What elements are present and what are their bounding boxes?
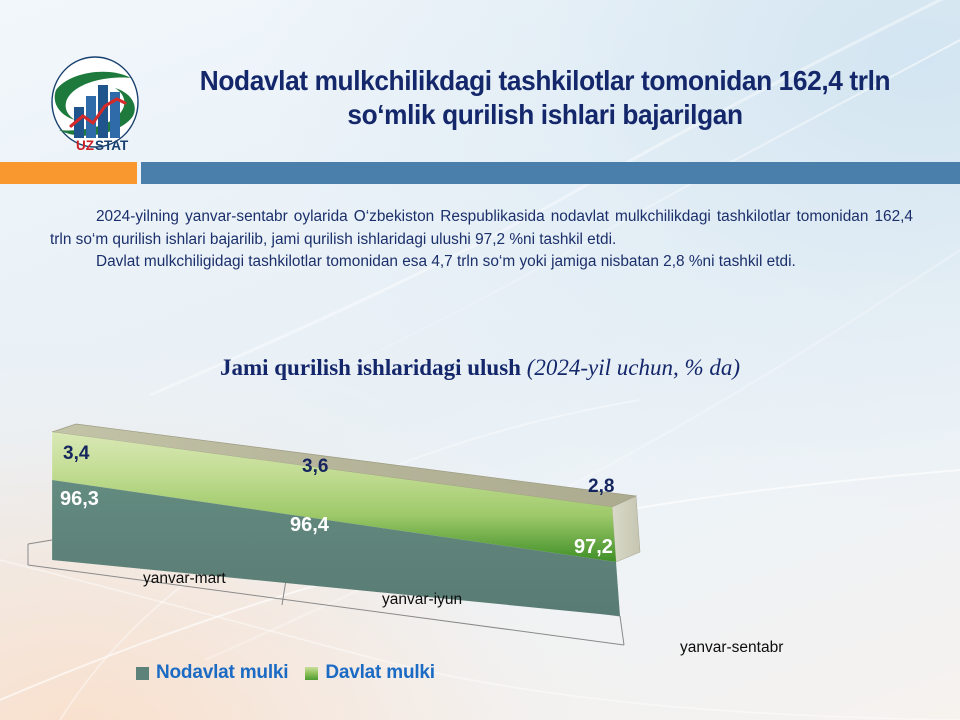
chart-legend: Nodavlat mulki Davlat mulki	[136, 662, 435, 684]
svg-text:STAT: STAT	[95, 138, 129, 153]
chart-3d-graphic	[0, 400, 960, 670]
value-label-nodavlat-q3: 97,2	[574, 536, 613, 559]
legend-label-davlat: Davlat mulki	[325, 662, 435, 684]
value-label-nodavlat-q1: 96,3	[60, 488, 99, 511]
value-label-davlat-q3: 2,8	[588, 476, 614, 498]
chart-title: Jami qurilish ishlaridagi ulush (2024-yi…	[0, 355, 960, 381]
legend-label-nodavlat: Nodavlat mulki	[156, 662, 288, 684]
body-text: 2024-yilning yanvar-sentabr oylarida O‘z…	[50, 206, 913, 274]
legend-swatch-icon-nodavlat	[136, 667, 149, 680]
accent-bar-blue	[141, 162, 960, 184]
chart: 3,4 3,6 2,8 96,3 96,4 97,2 yanvar-mart y…	[0, 400, 960, 670]
legend-item-nodavlat-mulki[interactable]: Nodavlat mulki	[136, 662, 288, 684]
page-title: Nodavlat mulkchilikdagi tashkilotlar tom…	[168, 64, 922, 132]
value-label-davlat-q2: 3,6	[302, 456, 328, 478]
body-paragraph-2: Davlat mulkchiligidagi tashkilotlar tomo…	[50, 251, 913, 274]
header: UZ STAT Nodavlat mulkchilikdagi tashkilo…	[0, 0, 960, 158]
value-label-davlat-q1: 3,4	[63, 443, 89, 465]
uzstat-logo: UZ STAT	[47, 54, 143, 155]
slide-canvas: UZ STAT Nodavlat mulkchilikdagi tashkilo…	[0, 0, 960, 720]
svg-text:UZ: UZ	[76, 138, 94, 153]
axis-label-category-1: yanvar-mart	[143, 570, 226, 588]
chart-title-main: Jami qurilish ishlaridagi ulush	[220, 355, 521, 380]
value-label-nodavlat-q2: 96,4	[290, 514, 329, 537]
axis-label-category-2: yanvar-iyun	[382, 591, 462, 609]
accent-bar-orange	[0, 162, 137, 184]
legend-swatch-icon-davlat	[305, 667, 318, 680]
legend-item-davlat-mulki[interactable]: Davlat mulki	[305, 662, 435, 684]
axis-label-category-3: yanvar-sentabr	[680, 639, 783, 657]
body-paragraph-1: 2024-yilning yanvar-sentabr oylarida O‘z…	[50, 206, 913, 251]
chart-title-subtitle: (2024-yil uchun, % da)	[527, 355, 740, 380]
